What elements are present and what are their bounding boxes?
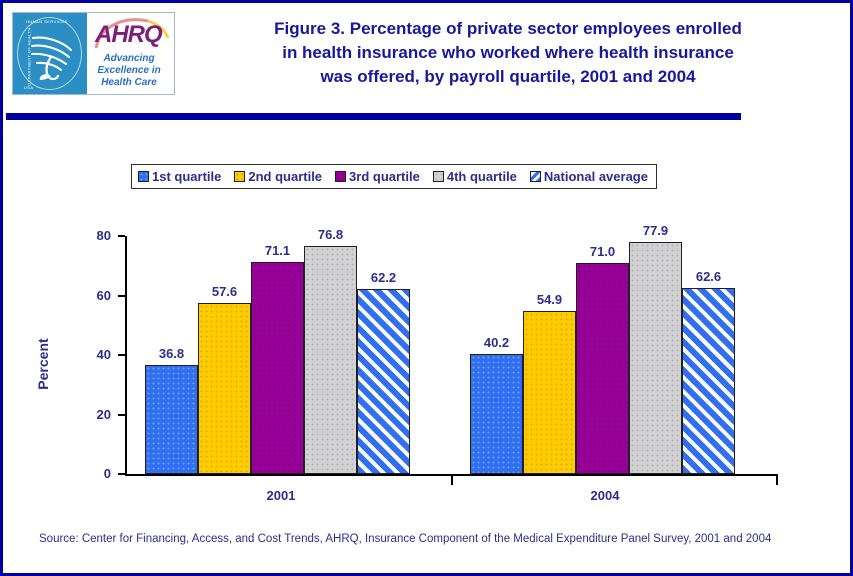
- y-axis-tick-label-60: 60: [41, 288, 111, 303]
- bar-value-label: 62.6: [676, 269, 741, 284]
- y-axis-tick-0: [118, 473, 125, 475]
- bar-value-label: 40.2: [464, 335, 529, 350]
- bar-value-label: 71.0: [570, 244, 635, 259]
- bar: [145, 365, 198, 474]
- bar: [523, 311, 576, 474]
- bar: [629, 242, 682, 474]
- y-axis-tick-20: [118, 414, 125, 416]
- bar-value-label: 77.9: [623, 223, 688, 238]
- y-axis-tick-60: [118, 295, 125, 297]
- y-axis-tick-label-0: 0: [41, 466, 111, 481]
- bar: [251, 262, 304, 474]
- y-axis-title: Percent: [35, 314, 51, 414]
- x-axis-label-2004: 2004: [545, 488, 665, 503]
- source-note: Source: Center for Financing, Access, an…: [39, 531, 809, 548]
- bar-value-label: 36.8: [139, 346, 204, 361]
- y-axis-tick-label-20: 20: [41, 407, 111, 422]
- y-axis-tick-label-40: 40: [41, 347, 111, 362]
- x-axis-mid-tick: [451, 476, 453, 485]
- bar: [357, 289, 410, 474]
- bar: [576, 263, 629, 474]
- bar: [682, 288, 735, 474]
- bar-value-label: 57.6: [192, 284, 257, 299]
- figure-page: HUMAN SERVICES DEPARTMENT OF HEALTH USA: [0, 0, 853, 576]
- bar: [304, 246, 357, 474]
- bar-value-label: 54.9: [517, 292, 582, 307]
- y-axis-tick-40: [118, 354, 125, 356]
- x-axis-label-2001: 2001: [221, 488, 341, 503]
- x-axis-end-tick: [776, 476, 778, 485]
- bar-value-label: 71.1: [245, 243, 310, 258]
- y-axis-tick-label-80: 80: [41, 228, 111, 243]
- bar: [198, 303, 251, 474]
- bar: [470, 354, 523, 474]
- y-axis-tick-80: [118, 235, 125, 237]
- chart-plot-area: 020406080 Percent 36.857.671.176.862.240…: [3, 3, 850, 573]
- bar-value-label: 62.2: [351, 270, 416, 285]
- bars-container: 36.857.671.176.862.240.254.971.077.962.6: [125, 236, 778, 474]
- bar-value-label: 76.8: [298, 227, 363, 242]
